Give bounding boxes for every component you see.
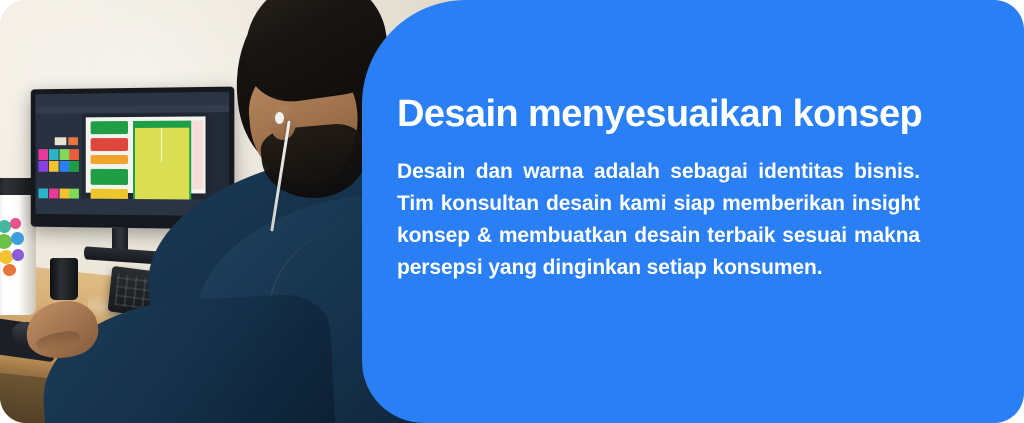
monitor-screen xyxy=(36,92,230,216)
app-toolbar xyxy=(36,105,230,114)
canvas-main-artboard xyxy=(133,121,191,204)
blue-content-panel: Desain menyesuaikan konsep Desain dan wa… xyxy=(362,0,1024,423)
canvas-green-block xyxy=(91,169,128,185)
canvas-orange-block xyxy=(91,155,128,164)
color-swatch-grid xyxy=(38,149,79,175)
panel-body-text: Desain dan warna adalah sebagai identita… xyxy=(397,156,920,284)
canvas-red-block xyxy=(91,138,128,151)
promo-banner: Desain menyesuaikan konsep Desain dan wa… xyxy=(0,0,1024,423)
panel-chip-orange xyxy=(68,137,78,145)
app-left-panel xyxy=(36,113,82,198)
canvas-green-header xyxy=(91,121,128,134)
panel-headline: Desain menyesuaikan konsep xyxy=(397,92,957,136)
design-canvas xyxy=(86,116,206,193)
tumbler-sticker xyxy=(0,218,32,280)
panel-text-container: Desain menyesuaikan konsep Desain dan wa… xyxy=(397,92,957,284)
black-cup xyxy=(50,258,78,300)
earphone-bud-icon xyxy=(275,112,284,124)
canvas-right-column xyxy=(192,120,203,189)
panel-chip xyxy=(55,137,67,145)
